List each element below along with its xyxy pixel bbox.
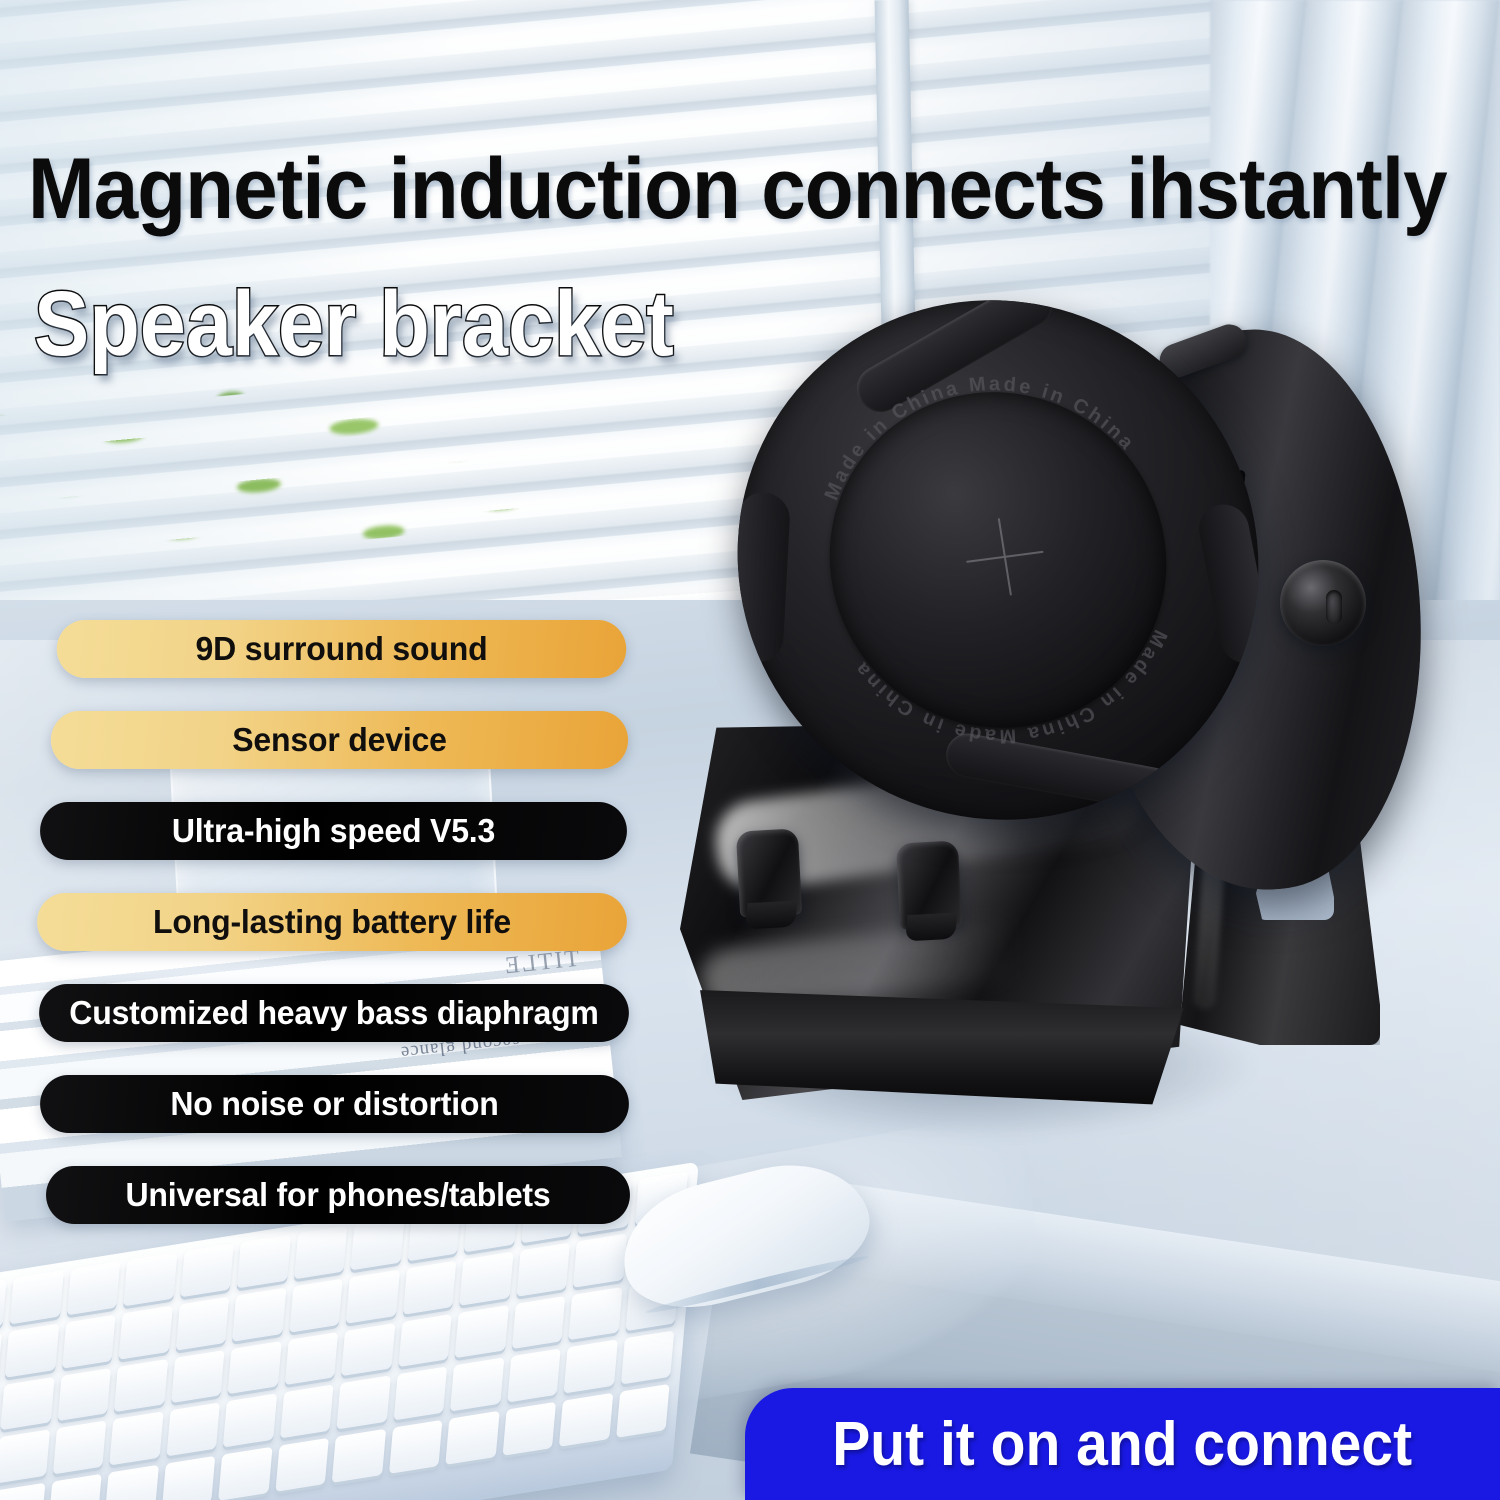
feature-pill-3[interactable]: Ultra-high speed V5.3 [40, 802, 627, 860]
feature-pill-6-label: No noise or distortion [149, 1085, 520, 1123]
feature-pill-7-label: Universal for phones/tablets [104, 1176, 572, 1214]
stand-hook-right [896, 840, 962, 929]
feature-pill-2[interactable]: Sensor device [51, 711, 628, 769]
feature-pill-1-label: 9D surround sound [174, 630, 509, 668]
product-marketing-image: second glance TITLE [0, 0, 1500, 1500]
stand-hook-left [736, 828, 802, 917]
feature-pill-6[interactable]: No noise or distortion [40, 1075, 629, 1133]
feature-pill-4-label: Long-lasting battery life [132, 903, 533, 941]
feature-pill-4[interactable]: Long-lasting battery life [37, 893, 627, 951]
plus-mark-icon [964, 517, 1046, 597]
product-speaker-on-stand: Made in China Made in China Made in Chin… [660, 290, 1420, 1190]
feature-pill-2-label: Sensor device [211, 721, 468, 759]
feature-pill-5[interactable]: Customized heavy bass diaphragm [39, 984, 629, 1042]
pivot-knob [1280, 560, 1366, 646]
feature-pill-7[interactable]: Universal for phones/tablets [46, 1166, 630, 1224]
feature-pill-1[interactable]: 9D surround sound [57, 620, 626, 678]
feature-pill-3-label: Ultra-high speed V5.3 [151, 812, 517, 850]
bottom-cta-banner[interactable]: Put it on and connect [745, 1388, 1500, 1500]
bottom-cta-text: Put it on and connect [833, 1409, 1413, 1480]
feature-pill-5-label: Customized heavy bass diaphragm [48, 994, 620, 1032]
speaker-front-face: Made in China Made in China Made in Chin… [724, 294, 1271, 827]
molded-badge-left [730, 491, 791, 664]
feature-pill-list: 9D surround sound Sensor device Ultra-hi… [0, 0, 700, 1500]
